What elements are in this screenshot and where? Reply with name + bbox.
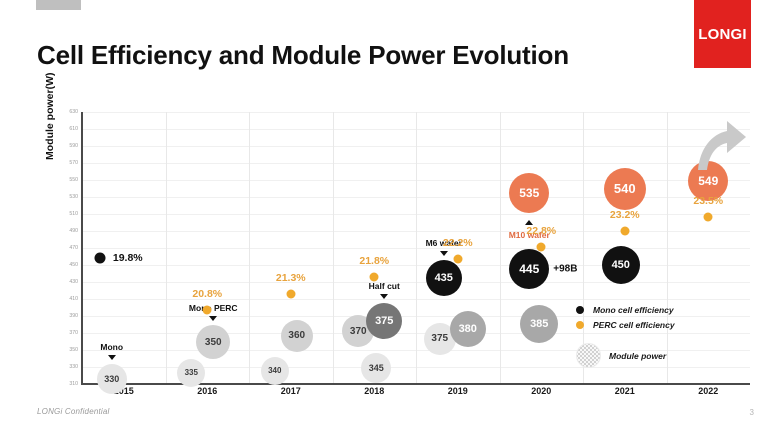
legend-label-module-power: Module power <box>609 351 666 361</box>
y-tick-label: 390 <box>69 313 78 319</box>
efficiency-value-label: 21.3% <box>276 272 306 284</box>
y-tick-label: 570 <box>69 160 78 166</box>
slide-canvas: LONGI Cell Efficiency and Module Power E… <box>0 0 768 439</box>
efficiency-value-label: 23.2% <box>610 209 640 221</box>
x-tick-label: 2022 <box>698 386 718 396</box>
x-tick-label: 2018 <box>364 386 384 396</box>
perc-efficiency-dot <box>537 243 546 252</box>
perc-efficiency-dot <box>286 290 295 299</box>
module-power-bubble: 450 <box>602 246 640 284</box>
y-tick-label: 330 <box>69 364 78 370</box>
efficiency-value-label: 23.5% <box>693 195 723 207</box>
y-tick-label: 530 <box>69 194 78 200</box>
legend-label-mono: Mono cell efficiency <box>593 305 674 315</box>
module-power-bubble: 445 <box>509 249 549 289</box>
legend-item-module-power: Module power <box>576 343 746 368</box>
mono-efficiency-dot <box>94 253 105 264</box>
efficiency-value-label: 19.8% <box>113 252 143 264</box>
y-tick-label: 370 <box>69 330 78 336</box>
y-tick-label: 410 <box>69 296 78 302</box>
annotation-pointer-icon <box>380 294 388 299</box>
y-tick-label: 310 <box>69 381 78 387</box>
decorative-gray-tab <box>36 0 81 10</box>
perc-efficiency-dot <box>453 255 462 264</box>
x-tick-label: 2021 <box>615 386 635 396</box>
y-tick-label: 550 <box>69 177 78 183</box>
efficiency-value-label: 21.8% <box>359 255 389 267</box>
chart-legend: Mono cell efficiency PERC cell efficienc… <box>576 302 746 368</box>
bubble-annotation: Mono <box>100 342 123 352</box>
module-power-bubble: 535 <box>509 173 549 213</box>
page-number: 3 <box>750 408 754 417</box>
module-power-bubble: 380 <box>450 311 486 347</box>
category-separator <box>333 112 334 384</box>
x-tick-label: 2020 <box>531 386 551 396</box>
category-separator <box>416 112 417 384</box>
black-dot-icon <box>576 306 584 314</box>
module-power-bubble: 345 <box>361 353 391 383</box>
annotation-pointer-icon <box>108 355 116 360</box>
legend-item-perc: PERC cell efficiency <box>576 317 746 332</box>
module-power-bubble: 540 <box>604 168 646 210</box>
x-tick-label: 2019 <box>448 386 468 396</box>
x-tick-label: 2017 <box>281 386 301 396</box>
y-axis-line <box>81 112 83 384</box>
y-axis-title: Module power(W) <box>44 73 56 161</box>
module-power-bubble: 375 <box>366 303 402 339</box>
y-tick-label: 470 <box>69 245 78 251</box>
y-tick-label: 610 <box>69 126 78 132</box>
longi-logo: LONGI <box>694 0 751 68</box>
y-tick-label: 350 <box>69 347 78 353</box>
category-separator <box>500 112 501 384</box>
perc-efficiency-dot <box>620 227 629 236</box>
efficiency-value-label: 22.2% <box>443 237 473 249</box>
module-power-bubble: 360 <box>281 320 313 352</box>
y-tick-label: 490 <box>69 228 78 234</box>
bubble-annotation: Mono PERC <box>189 303 238 313</box>
module-power-bubble: 350 <box>196 325 230 359</box>
annotation-pointer-icon <box>440 251 448 256</box>
y-tick-label: 430 <box>69 279 78 285</box>
footer-confidential-note: LONGi Confidential <box>37 407 110 416</box>
module-power-bubble: 435 <box>426 260 462 296</box>
y-tick-label: 510 <box>69 211 78 217</box>
bubble-annotation: Half cut <box>369 281 400 291</box>
efficiency-value-label: 22.8% <box>526 225 556 237</box>
legend-label-perc: PERC cell efficiency <box>593 320 675 330</box>
annotation-pointer-icon <box>209 316 217 321</box>
perc-efficiency-dot <box>704 213 713 222</box>
perc-efficiency-dot <box>203 306 212 315</box>
module-power-bubble: 340 <box>261 357 289 385</box>
legend-item-mono: Mono cell efficiency <box>576 302 746 317</box>
module-power-bubble: 330 <box>97 364 127 394</box>
efficiency-value-label: 20.8% <box>192 288 222 300</box>
dotted-circle-icon <box>576 343 601 368</box>
perc-efficiency-dot <box>370 273 379 282</box>
x-tick-label: 2016 <box>197 386 217 396</box>
category-separator <box>166 112 167 384</box>
category-separator <box>249 112 250 384</box>
page-title: Cell Efficiency and Module Power Evoluti… <box>37 40 569 71</box>
module-power-bubble: 385 <box>520 305 558 343</box>
bubble-chart: 6306105905705505305104904704504304103903… <box>82 112 750 384</box>
y-tick-label: 590 <box>69 143 78 149</box>
module-power-bubble: 335 <box>177 359 205 387</box>
y-tick-label: 630 <box>69 109 78 115</box>
bubble-delta-label: +98B <box>553 264 577 275</box>
logo-text: LONGI <box>698 26 747 43</box>
orange-dot-icon <box>576 321 584 329</box>
growth-arrow-icon <box>694 112 756 174</box>
annotation-pointer-icon <box>525 220 533 225</box>
y-tick-label: 450 <box>69 262 78 268</box>
